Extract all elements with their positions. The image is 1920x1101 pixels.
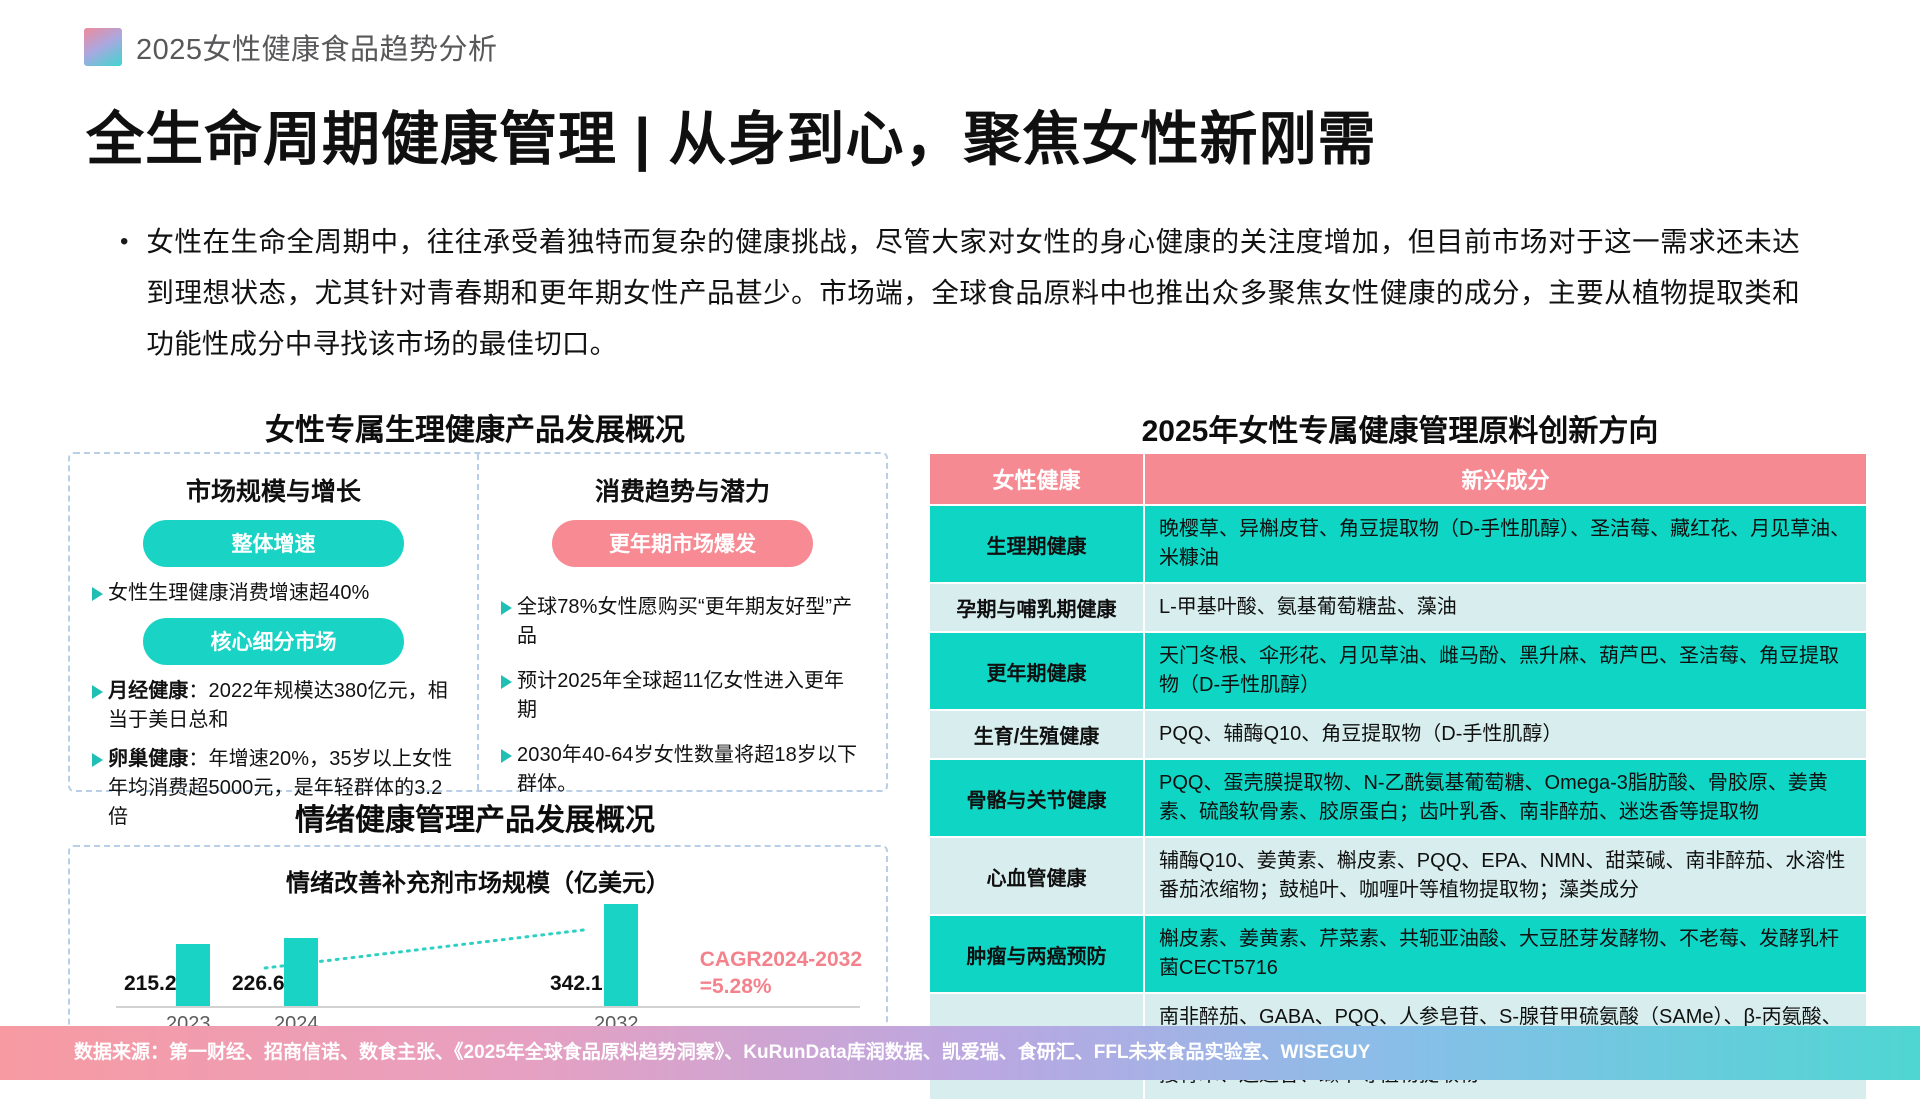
x-axis-line bbox=[116, 1006, 860, 1008]
slide-root: 2025女性健康食品趋势分析 全生命周期健康管理 | 从身到心，聚焦女性新刚需 … bbox=[0, 0, 1920, 1080]
lead-paragraph: • 女性在生命全周期中，往往承受着独特而复杂的健康挑战，尽管大家对女性的身心健康… bbox=[120, 216, 1800, 369]
list-item: 全球78%女性愿购买“更年期友好型”产品 bbox=[501, 593, 864, 651]
brand-title: 2025女性健康食品趋势分析 bbox=[136, 26, 498, 68]
table-cell-category: 更年期健康 bbox=[929, 632, 1144, 710]
chart-title: 情绪改善补充剂市场规模（亿美元） bbox=[70, 863, 886, 898]
emotion-supplement-chart-panel: 情绪改善补充剂市场规模（亿美元） 215.2 2023 226.6 2024 3… bbox=[68, 845, 888, 1035]
bullet-text: 全球78%女性愿购买“更年期友好型”产品 bbox=[517, 593, 864, 651]
table-cell-ingredients: PQQ、辅酶Q10、角豆提取物（D-手性肌醇） bbox=[1144, 710, 1867, 759]
bullet-label: 卵巢健康 bbox=[108, 748, 188, 770]
table-header-ingredients: 新兴成分 bbox=[1144, 453, 1867, 505]
gradient-square-logo-icon bbox=[84, 28, 122, 66]
table-row: 生育/生殖健康 PQQ、辅酶Q10、角豆提取物（D-手性肌醇） bbox=[929, 710, 1867, 759]
table-row: 骨骼与关节健康 PQQ、蛋壳膜提取物、N-乙酰氨基葡萄糖、Omega-3脂肪酸、… bbox=[929, 759, 1867, 837]
brand-header: 2025女性健康食品趋势分析 bbox=[84, 26, 498, 68]
footer-bar: 数据来源：第一财经、招商信诺、数食主张、《2025年全球食品原料趋势洞察》、Ku… bbox=[0, 1026, 1920, 1080]
table-header-category: 女性健康 bbox=[929, 453, 1144, 505]
bar-value-2032: 342.1 bbox=[550, 972, 603, 996]
bar-2023 bbox=[176, 944, 210, 1006]
table-cell-ingredients: PQQ、蛋壳膜提取物、N-乙酰氨基葡萄糖、Omega-3脂肪酸、骨胶原、姜黄素、… bbox=[1144, 759, 1867, 837]
cagr-annotation: CAGR2024-2032 =5.28% bbox=[700, 946, 862, 1000]
panel-column-market-size: 市场规模与增长 整体增速 女性生理健康消费增速超40% 核心细分市场 月经健康：… bbox=[70, 454, 477, 790]
list-item: 预计2025年全球超11亿女性进入更年期 bbox=[501, 667, 864, 725]
triangle-bullet-icon bbox=[92, 587, 103, 601]
table-cell-category: 肿瘤与两癌预防 bbox=[929, 915, 1144, 993]
bar-chart: 215.2 2023 226.6 2024 342.1 2032 CAGR202… bbox=[88, 902, 868, 1038]
list-item: 月经健康：2022年规模达380亿元，相当于美日总和 bbox=[92, 677, 455, 735]
triangle-bullet-icon bbox=[92, 685, 103, 699]
table-cell-ingredients: 辅酶Q10、姜黄素、槲皮素、PQQ、EPA、NMN、甜菜碱、南非醉茄、水溶性番茄… bbox=[1144, 837, 1867, 915]
table-cell-ingredients: 槲皮素、姜黄素、芹菜素、共轭亚油酸、大豆胚芽发酵物、不老莓、发酵乳杆菌CECT5… bbox=[1144, 915, 1867, 993]
section-heading-physiological: 女性专属生理健康产品发展概况 bbox=[60, 405, 890, 449]
table-header-row: 女性健康 新兴成分 bbox=[929, 453, 1867, 505]
triangle-bullet-icon bbox=[92, 753, 103, 767]
column-title: 消费趋势与潜力 bbox=[501, 472, 864, 508]
column-title: 市场规模与增长 bbox=[92, 472, 455, 508]
table-cell-category: 生育/生殖健康 bbox=[929, 710, 1144, 759]
ingredient-innovation-table: 女性健康 新兴成分 生理期健康 晚樱草、异槲皮苷、角豆提取物（D-手性肌醇）、圣… bbox=[928, 452, 1868, 1101]
table-row: 生理期健康 晚樱草、异槲皮苷、角豆提取物（D-手性肌醇）、圣洁莓、藏红花、月见草… bbox=[929, 505, 1867, 583]
table-cell-ingredients: L-甲基叶酸、氨基葡萄糖盐、藻油 bbox=[1144, 583, 1867, 632]
pill-menopause-boom: 更年期市场爆发 bbox=[552, 520, 813, 567]
list-item: 2030年40-64岁女性数量将超18岁以下群体。 bbox=[501, 741, 864, 799]
footer-source-text: 数据来源：第一财经、招商信诺、数食主张、《2025年全球食品原料趋势洞察》、Ku… bbox=[74, 1026, 1370, 1080]
page-title: 全生命周期健康管理 | 从身到心，聚焦女性新刚需 bbox=[86, 92, 1376, 176]
table-cell-ingredients: 晚樱草、异槲皮苷、角豆提取物（D-手性肌醇）、圣洁莓、藏红花、月见草油、米糠油 bbox=[1144, 505, 1867, 583]
pill-core-segment: 核心细分市场 bbox=[143, 618, 404, 665]
bullet-text: 2030年40-64岁女性数量将超18岁以下群体。 bbox=[517, 741, 864, 799]
bar-2032 bbox=[604, 904, 638, 1006]
table-row: 心血管健康 辅酶Q10、姜黄素、槲皮素、PQQ、EPA、NMN、甜菜碱、南非醉茄… bbox=[929, 837, 1867, 915]
table-cell-ingredients: 天门冬根、伞形花、月见草油、雌马酚、黑升麻、葫芦巴、圣洁莓、角豆提取物（D-手性… bbox=[1144, 632, 1867, 710]
table-row: 肿瘤与两癌预防 槲皮素、姜黄素、芹菜素、共轭亚油酸、大豆胚芽发酵物、不老莓、发酵… bbox=[929, 915, 1867, 993]
bullet-text: 月经健康：2022年规模达380亿元，相当于美日总和 bbox=[108, 677, 455, 735]
pill-overall-growth: 整体增速 bbox=[143, 520, 404, 567]
table-row: 孕期与哺乳期健康 L-甲基叶酸、氨基葡萄糖盐、藻油 bbox=[929, 583, 1867, 632]
cagr-line-1: CAGR2024-2032 bbox=[700, 946, 862, 973]
section-heading-emotional: 情绪健康管理产品发展概况 bbox=[60, 795, 890, 839]
table-cell-category: 心血管健康 bbox=[929, 837, 1144, 915]
panel-column-consumption-trend: 消费趋势与潜力 更年期市场爆发 全球78%女性愿购买“更年期友好型”产品 预计2… bbox=[477, 454, 886, 790]
bar-2024 bbox=[284, 938, 318, 1006]
bullet-text: 女性生理健康消费增速超40% bbox=[108, 579, 369, 608]
list-item: 女性生理健康消费增速超40% bbox=[92, 579, 455, 608]
table-row: 更年期健康 天门冬根、伞形花、月见草油、雌马酚、黑升麻、葫芦巴、圣洁莓、角豆提取… bbox=[929, 632, 1867, 710]
triangle-bullet-icon bbox=[501, 749, 512, 763]
physiological-health-panel: 市场规模与增长 整体增速 女性生理健康消费增速超40% 核心细分市场 月经健康：… bbox=[68, 452, 888, 792]
bar-value-2023: 215.2 bbox=[124, 972, 177, 996]
bullet-label: 月经健康 bbox=[108, 680, 188, 702]
bullet-text: 预计2025年全球超11亿女性进入更年期 bbox=[517, 667, 864, 725]
table-cell-category: 生理期健康 bbox=[929, 505, 1144, 583]
cagr-line-2: =5.28% bbox=[700, 973, 862, 1000]
table-cell-category: 骨骼与关节健康 bbox=[929, 759, 1144, 837]
triangle-bullet-icon bbox=[501, 675, 512, 689]
bar-value-2024: 226.6 bbox=[232, 972, 285, 996]
table-cell-category: 孕期与哺乳期健康 bbox=[929, 583, 1144, 632]
lead-bullet-glyph: • bbox=[120, 216, 128, 267]
lead-paragraph-text: 女性在生命全周期中，往往承受着独特而复杂的健康挑战，尽管大家对女性的身心健康的关… bbox=[146, 216, 1800, 369]
triangle-bullet-icon bbox=[501, 601, 512, 615]
section-heading-ingredients: 2025年女性专属健康管理原料创新方向 bbox=[920, 406, 1880, 450]
